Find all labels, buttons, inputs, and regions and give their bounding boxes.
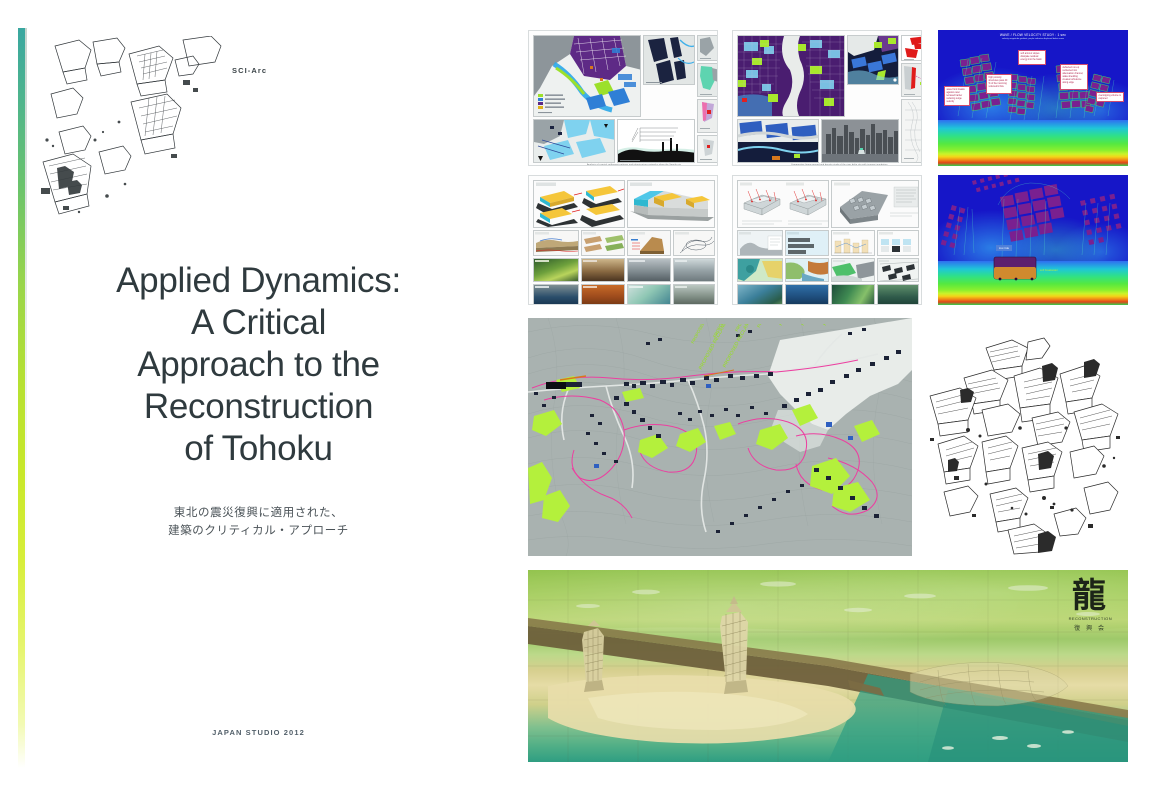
mini-section-tile-4 (673, 230, 715, 256)
map-tile-1 (737, 258, 783, 282)
title-line-2: A Critical (191, 303, 326, 342)
cfd-callout-2: high porosity structures pass 40 % of th… (986, 74, 1012, 94)
photo-tile-12 (877, 284, 919, 305)
cover-subtitle: 東北の震災復興に適用された、 建築のクリティカル・アプローチ (27, 504, 490, 540)
cover-footer: JAPAN STUDIO 2012 (27, 728, 490, 737)
annotation-9: PROPOSED RECLAMATION TERRACE (722, 324, 770, 369)
mini-region-2 (697, 63, 718, 97)
mini-keyplan (697, 135, 718, 163)
mini-plan-main (533, 35, 641, 117)
map-tile-2 (785, 258, 829, 282)
mini-plan-blocks (737, 119, 819, 163)
board-site-plan-map[interactable]: PROPOSED RECLAMATION TERRACE PROPOSED RE… (528, 318, 912, 556)
mini-region-3 (697, 99, 718, 133)
cfd-ground-label: soft breakwater (1040, 269, 1058, 272)
cover-spine-gradient (18, 28, 25, 768)
board-exploded-axonometric[interactable] (924, 318, 1128, 556)
photo-tile-7 (627, 284, 671, 305)
board-caption-ishinomaki: Comparative figure-ground and density st… (791, 164, 891, 166)
cover-title-block: Applied Dynamics: A Critical Approach to… (27, 260, 490, 470)
axon-drawing (924, 318, 1128, 556)
mini-figure-ground (643, 35, 695, 85)
photo-tile-1 (533, 258, 579, 282)
board-massing-diagrams[interactable] (528, 175, 718, 305)
title-line-1: Applied Dynamics: (116, 261, 401, 300)
kanji-subtitle: 復 興 会 (1074, 623, 1106, 632)
photo-tile-6 (581, 284, 625, 305)
photo-tile-11 (831, 284, 875, 305)
board-cfd-wave-energy[interactable]: WAVE / FLOW VELOCITY STUDY : 1 sec veloc… (938, 30, 1128, 166)
photo-tile-3 (627, 258, 671, 282)
photo-tile-4 (673, 258, 715, 282)
mini-section-axon-pair (737, 180, 829, 228)
title-line-5: of Tohoku (184, 429, 332, 468)
annotation-7: PROPOSED RECLAMATION TERRACE (822, 324, 862, 326)
subtitle-line-2: 建築のクリティカル・アプローチ (168, 523, 349, 537)
map-tile-4 (877, 258, 919, 282)
cfd-tide-label: low tide (996, 245, 1012, 251)
photo-tile-10 (785, 284, 829, 305)
mini-figureground-delta (737, 35, 845, 117)
annotation-5: PROPOSED RECLAMATION TERRACE (778, 324, 818, 326)
board-section-diagrams[interactable] (732, 175, 922, 305)
mini-section-tile-1 (533, 230, 579, 256)
kanji-dragon: 龍 (1072, 579, 1106, 613)
board-landscape-render[interactable]: 龍 RECONSTRUCTION 復 興 会 (528, 570, 1128, 762)
site-plan-annotations: PROPOSED RECLAMATION TERRACE PROPOSED RE… (678, 324, 868, 434)
subtitle-line-1: 東北の震災復興に適用された、 (174, 505, 343, 519)
cfd-callout-4: deflected run-up redirected into attenua… (1060, 64, 1088, 90)
portfolio-page: SCI-Arc Applied Dynamics: A Critical App… (0, 0, 1152, 792)
institution-logo: SCI-Arc (232, 66, 267, 75)
mini-massing-axon-b (627, 180, 715, 228)
mini-section-profile (617, 119, 695, 163)
mini-chart-tile-1 (831, 230, 875, 256)
photo-tile-9 (737, 284, 783, 305)
annotation-4: PROPOSED RECLAMATION TERRACE (756, 324, 796, 328)
mini-chart-tile-2 (877, 230, 919, 256)
cfd-callout-1: wave front breaks against outer terraced… (944, 86, 970, 106)
mini-region-1 (697, 35, 718, 61)
photo-tile-8 (673, 284, 715, 305)
mini-longsection-map (901, 99, 922, 163)
title-line-4: Reconstruction (144, 387, 373, 426)
board-cfd-low-tide[interactable]: low tide soft breakwater (938, 175, 1128, 305)
mini-skyline-elevation (821, 119, 899, 163)
board-caption-kesennuma: Analysis of coastal settlement patterns … (587, 164, 687, 166)
map-tile-3 (831, 258, 875, 282)
presentation-board-grid: KESENNUMA, IWATE Analysis of coastal set… (528, 30, 1128, 762)
mini-coast-tile-2 (785, 230, 829, 256)
render-geometry (528, 570, 1128, 762)
mini-terrain-axon (831, 180, 919, 228)
mini-section-tile-3 (627, 230, 671, 256)
photo-tile-2 (581, 258, 625, 282)
mini-section-tile-2 (581, 230, 625, 256)
book-cover: SCI-Arc Applied Dynamics: A Critical App… (18, 28, 490, 768)
cfd-callout-5: overtopping volume is captured (1096, 92, 1124, 102)
board-urban-analysis-kesennuma[interactable]: KESENNUMA, IWATE Analysis of coastal set… (528, 30, 718, 166)
board-urban-analysis-ishinomaki[interactable]: ISHINOMAKI, MIYAGI Comparative figure-gr… (732, 30, 922, 166)
mini-plan-detail (533, 119, 615, 163)
kanji-romaji: RECONSTRUCTION (1069, 616, 1112, 621)
mini-port-diagram (847, 35, 899, 85)
mini-hazard-map-red (901, 35, 922, 61)
mini-coast-tile-1 (737, 230, 783, 256)
title-line-3: Approach to the (137, 345, 380, 384)
cfd-lowtide-geometry (938, 175, 1128, 305)
annotation-6: PROPOSED RECLAMATION TERRACE (800, 324, 840, 326)
board-label-ishinomaki: ISHINOMAKI, MIYAGI (738, 165, 770, 166)
mini-massing-axon-a (533, 180, 625, 228)
mini-coast-detail (901, 63, 922, 97)
board-label-kesennuma: KESENNUMA, IWATE (534, 165, 566, 166)
cfd-callout-3: soft armour slopes dissipate residual en… (1018, 50, 1046, 65)
cover-fragment-drawing (33, 36, 263, 226)
photo-tile-5 (533, 284, 579, 305)
